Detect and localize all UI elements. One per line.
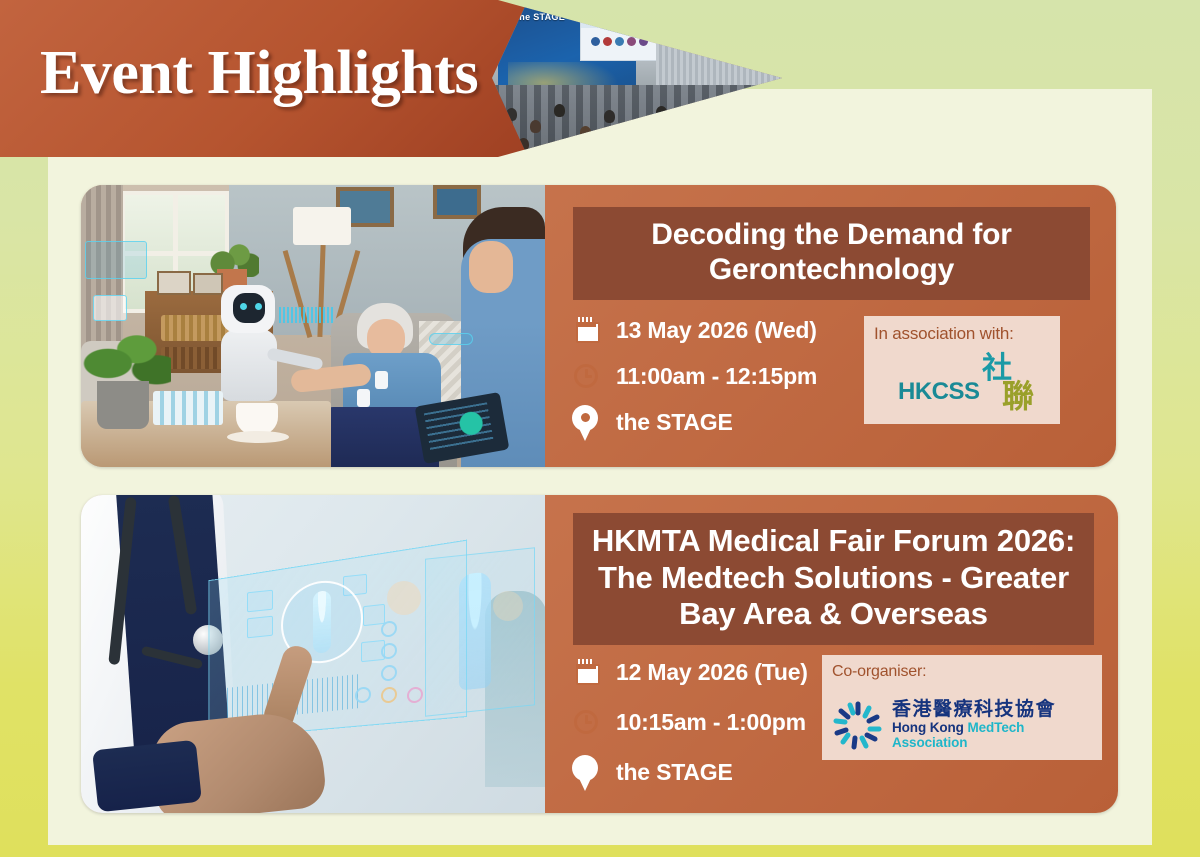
clock-icon: [569, 359, 603, 393]
medtech-swirl-icon: [832, 699, 884, 751]
medtech-wordmark: 香港醫療科技協會 Hong Kong MedTech Association: [892, 699, 1094, 751]
event-title-hkmta: HKMTA Medical Fair Forum 2026: The Medte…: [573, 513, 1094, 645]
hkcss-char-lian: 聯: [1002, 380, 1034, 412]
event-venue-row: the STAGE: [569, 755, 808, 789]
hall-curtain: [656, 8, 782, 94]
event-photo-hkmta: [81, 495, 545, 813]
event-card-hkmta[interactable]: HKMTA Medical Fair Forum 2026: The Medte…: [81, 495, 1118, 813]
event-date-text: 12 May 2026 (Tue): [616, 659, 808, 686]
partner-box-medtech: Co-organiser:: [822, 655, 1102, 760]
location-pin-icon: [569, 755, 603, 789]
event-venue-text: the STAGE: [616, 759, 733, 786]
event-body-gerontech: Decoding the Demand for Gerontechnology …: [545, 185, 1116, 467]
event-meta-gerontech: 13 May 2026 (Wed) 11:00am - 12:15pm the …: [569, 313, 817, 439]
event-venue-row: the STAGE: [569, 405, 817, 439]
page-title: Event Highlights: [40, 38, 478, 109]
event-time-text: 10:15am - 1:00pm: [616, 709, 806, 736]
partner-label: In association with:: [874, 324, 1050, 344]
hall-ceiling: [642, 0, 782, 18]
event-venue-text: the STAGE: [616, 409, 733, 436]
partner-label: Co-organiser:: [832, 663, 1092, 681]
medtech-en-hongkong: Hong Kong: [892, 720, 967, 735]
medtech-chinese-name: 香港醫療科技協會: [892, 699, 1094, 720]
hall-stage-label: the STAGE: [516, 12, 565, 22]
gerontech-illustration: [81, 185, 545, 467]
clock-icon: [569, 705, 603, 739]
event-meta-hkmta: 12 May 2026 (Tue) 10:15am - 1:00pm the S…: [569, 655, 808, 789]
event-date-text: 13 May 2026 (Wed): [616, 317, 817, 344]
event-photo-gerontech: [81, 185, 545, 467]
event-time-row: 11:00am - 12:15pm: [569, 359, 817, 393]
event-title-gerontech: Decoding the Demand for Gerontechnology: [573, 207, 1090, 300]
event-card-gerontech[interactable]: Decoding the Demand for Gerontechnology …: [81, 185, 1116, 467]
event-time-text: 11:00am - 12:15pm: [616, 363, 817, 390]
hkmta-logo: 香港醫療科技協會 Hong Kong MedTech Association: [832, 696, 1094, 754]
hkcss-wordmark: HKCSS: [898, 378, 980, 406]
event-date-row: 12 May 2026 (Tue): [569, 655, 808, 689]
event-body-hkmta: HKMTA Medical Fair Forum 2026: The Medte…: [545, 495, 1118, 813]
calendar-icon: [569, 313, 603, 347]
medtech-illustration: [81, 495, 545, 813]
location-pin-icon: [569, 405, 603, 439]
calendar-icon: [569, 655, 603, 689]
hall-presentation-screen: [580, 13, 658, 61]
event-date-row: 13 May 2026 (Wed): [569, 313, 817, 347]
hkcss-logo: HKCSS 社 聯: [874, 344, 1054, 416]
partner-box-hkcss: In association with: HKCSS 社 聯: [864, 316, 1060, 424]
event-time-row: 10:15am - 1:00pm: [569, 705, 808, 739]
medtech-english-name: Hong Kong MedTech Association: [892, 721, 1094, 751]
